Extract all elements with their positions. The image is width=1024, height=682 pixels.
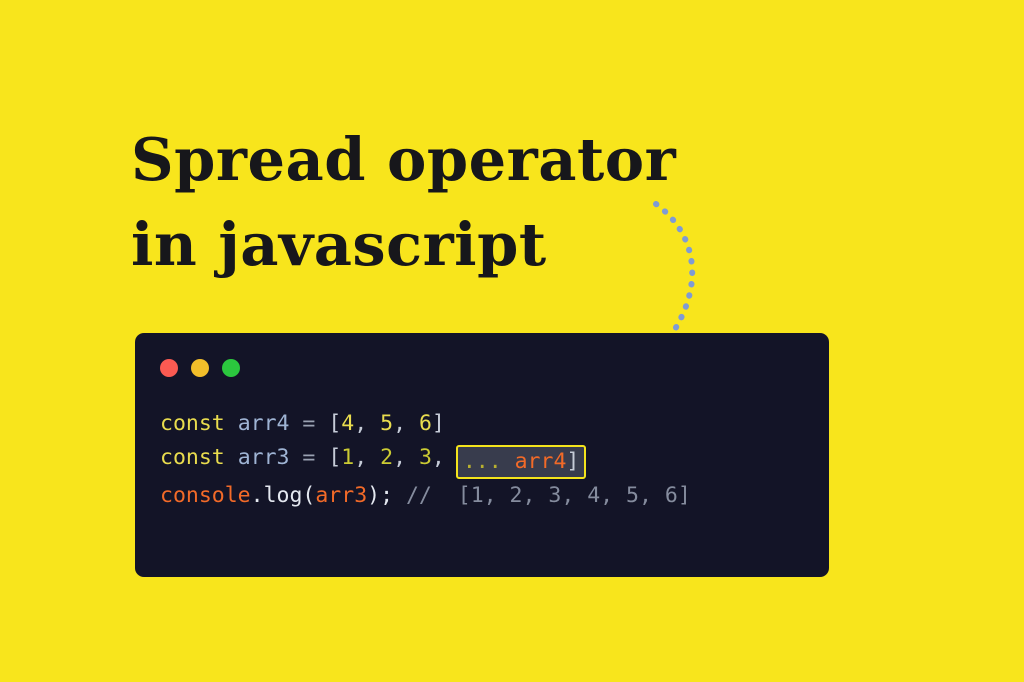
code-window: const arr4 = [4, 5, 6]const arr3 = [1, 2…	[135, 333, 829, 577]
code-token-func: console	[160, 483, 251, 508]
code-token-func: arr3	[315, 483, 367, 508]
code-token-plain	[502, 449, 515, 474]
minimize-dot-icon[interactable]	[191, 359, 209, 377]
code-line-1: const arr4 = [4, 5, 6]	[160, 407, 811, 441]
code-token-number: 2	[380, 445, 393, 470]
code-token-plain	[393, 483, 406, 508]
code-token-plain	[315, 445, 328, 470]
maximize-dot-icon[interactable]	[222, 359, 240, 377]
code-token-punct: ,	[393, 445, 419, 470]
code-token-punct: ]	[566, 449, 579, 474]
code-token-spread: ...	[463, 449, 502, 474]
code-token-keyword: const	[160, 411, 225, 436]
code-line-2: const arr3 = [1, 2, 3, ... arr4]	[160, 441, 811, 479]
code-token-method: (	[302, 483, 315, 508]
code-token-comment: [1, 2, 3, 4, 5, 6]	[432, 483, 691, 508]
code-token-number-y: 6	[419, 411, 432, 436]
code-body: const arr4 = [4, 5, 6]const arr3 = [1, 2…	[160, 407, 811, 512]
code-token-plain	[225, 445, 238, 470]
code-token-punct: ,	[354, 445, 380, 470]
code-token-comment: //	[406, 483, 432, 508]
code-token-var: arr3	[238, 445, 290, 470]
code-token-method: log	[264, 483, 303, 508]
code-token-method: .	[251, 483, 264, 508]
code-token-number-y: 4	[341, 411, 354, 436]
code-token-method: );	[367, 483, 393, 508]
code-line-3: console.log(arr3); // [1, 2, 3, 4, 5, 6]	[160, 479, 811, 513]
code-token-plain	[289, 445, 302, 470]
code-token-number: 3	[419, 445, 432, 470]
code-token-plain	[315, 411, 328, 436]
page-title: Spread operator in javascript	[131, 117, 751, 287]
code-token-punct: ,	[393, 411, 419, 436]
code-token-punct: ,	[354, 411, 380, 436]
page-title-line-1: Spread operator	[131, 117, 751, 202]
code-token-op: =	[302, 445, 315, 470]
code-token-punct: ]	[432, 411, 445, 436]
code-token-number: 1	[341, 445, 354, 470]
window-controls	[160, 359, 240, 377]
code-token-number-y: 5	[380, 411, 393, 436]
code-token-punct: ,	[432, 445, 458, 470]
code-token-func: arr4	[515, 449, 567, 474]
code-token-plain	[289, 411, 302, 436]
page-title-line-2: in javascript	[131, 202, 751, 287]
code-token-var: arr4	[238, 411, 290, 436]
spread-highlight: ... arr4]	[456, 445, 587, 479]
code-token-plain	[225, 411, 238, 436]
code-token-keyword: const	[160, 445, 225, 470]
close-dot-icon[interactable]	[160, 359, 178, 377]
code-token-op: =	[302, 411, 315, 436]
code-token-punct: [	[328, 445, 341, 470]
code-token-punct: [	[328, 411, 341, 436]
